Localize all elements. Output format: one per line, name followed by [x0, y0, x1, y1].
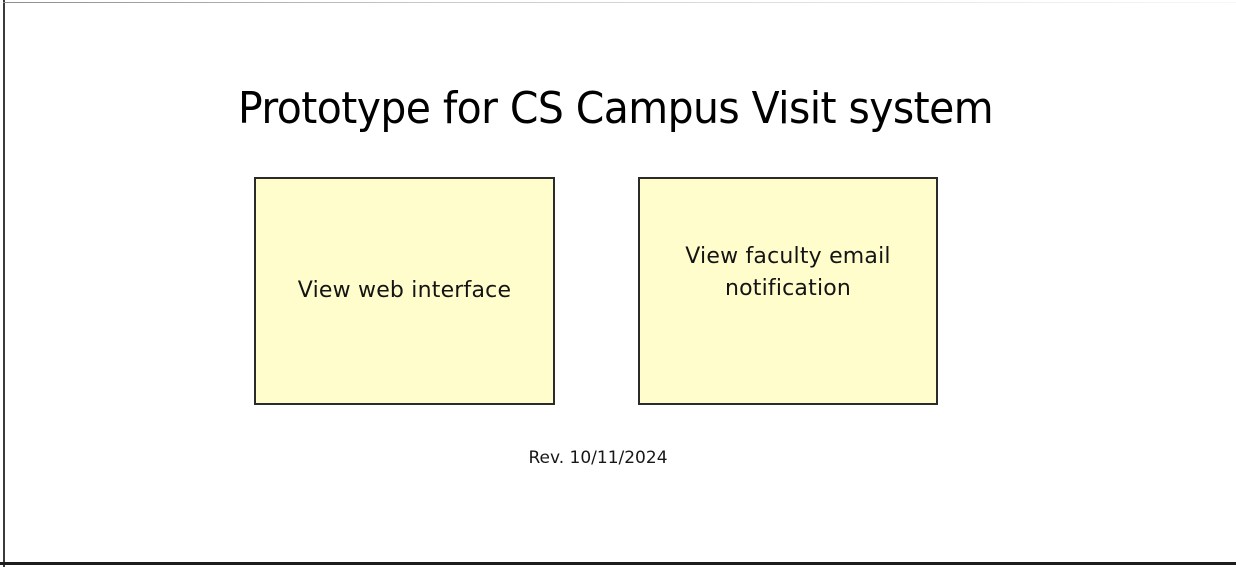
option-box-view-faculty-email-notification[interactable]: View faculty email notification — [638, 177, 938, 405]
option-box-view-web-interface[interactable]: View web interface — [254, 177, 555, 405]
revision-text: Rev. 10/11/2024 — [0, 447, 1196, 469]
page-title: Prototype for CS Campus Visit system — [238, 80, 926, 138]
option-box-label: View web interface — [284, 275, 525, 307]
option-box-label: View faculty email notification — [671, 241, 905, 305]
page-bottom-border — [0, 562, 1236, 565]
page-top-border — [3, 2, 1236, 3]
page-left-border — [3, 0, 5, 567]
slide-canvas: Prototype for CS Campus Visit system Vie… — [0, 0, 1236, 567]
